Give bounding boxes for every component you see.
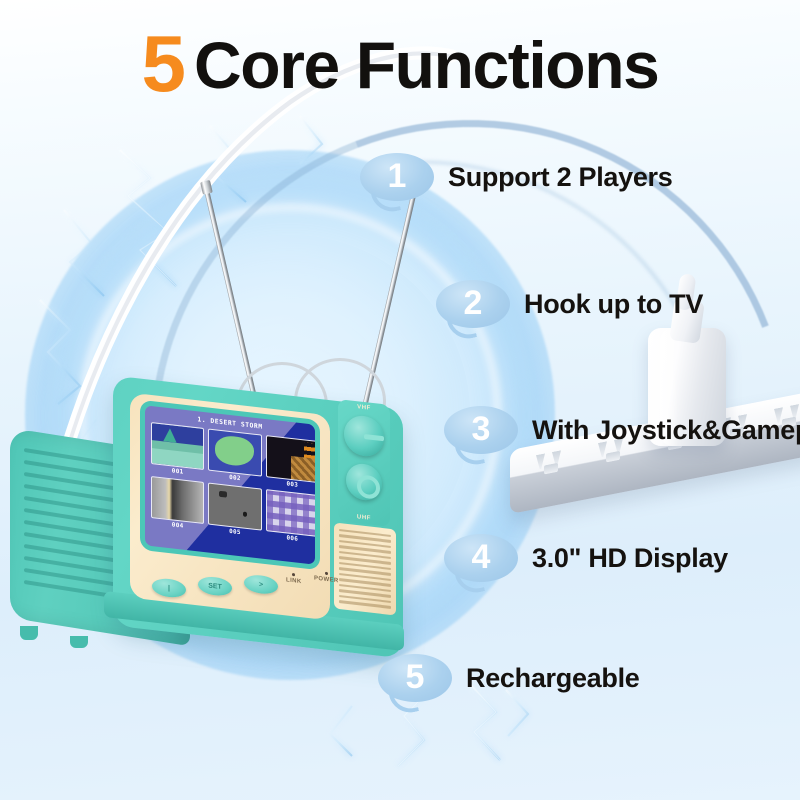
prev-button[interactable]: | [152, 577, 186, 599]
game-thumbnail-art [151, 476, 204, 524]
title-number: 5 [142, 19, 186, 108]
vhf-tuner-knob[interactable] [344, 414, 384, 459]
feature-badge-number: 4 [444, 534, 518, 582]
feature-item-1: 1 Support 2 Players [360, 153, 672, 201]
feature-label-5: Rechargeable [466, 663, 639, 694]
link-indicator: LINK [286, 572, 302, 585]
tv-screen-frame: 1. DESERT STORM 001 002 003 [140, 400, 320, 571]
feature-badge-number: 5 [378, 654, 452, 702]
game-thumbnail-item[interactable]: 006 [266, 489, 315, 547]
game-thumbnail-grid: 001 002 003 004 [151, 422, 315, 547]
poster-canvas: 5Core Functions [0, 0, 800, 800]
feature-badge-3: 3 [444, 406, 518, 454]
tuner-knob-panel: VHF UHF [338, 399, 390, 527]
vhf-label: VHF [338, 402, 390, 414]
power-led-icon [325, 572, 328, 575]
game-thumbnail-art [151, 422, 204, 470]
retro-tv-game-console: 1. DESERT STORM 001 002 003 [8, 350, 428, 690]
feature-badge-2: 2 [436, 280, 510, 328]
feature-badge-4: 4 [444, 534, 518, 582]
set-button[interactable]: SET [198, 575, 232, 597]
antenna-tip-left [200, 180, 213, 195]
feature-label-3: With Joystick&Gamepad [532, 415, 800, 446]
link-indicator-label: LINK [286, 577, 302, 585]
game-thumbnail-item[interactable]: 002 [208, 429, 261, 487]
next-button[interactable]: > [244, 574, 278, 596]
game-thumbnail-item[interactable]: 003 [266, 435, 315, 493]
game-thumbnail-item[interactable]: 004 [151, 476, 204, 534]
title-text: Core Functions [194, 28, 658, 102]
link-led-icon [292, 573, 295, 576]
game-thumbnail-item[interactable]: 005 [208, 483, 261, 541]
game-thumbnail-art [208, 483, 261, 531]
game-screen[interactable]: 1. DESERT STORM 001 002 003 [145, 405, 315, 564]
feature-item-4: 4 3.0" HD Display [444, 534, 728, 582]
feature-badge-1: 1 [360, 153, 434, 201]
feature-badge-5: 5 [378, 654, 452, 702]
feature-badge-number: 3 [444, 406, 518, 454]
game-thumbnail-art [266, 489, 315, 537]
game-thumbnail-item[interactable]: 001 [151, 422, 204, 480]
tv-foot-left [20, 626, 38, 640]
feature-badge-number: 2 [436, 280, 510, 328]
uhf-tuner-knob[interactable] [346, 462, 382, 502]
game-thumbnail-art [266, 435, 315, 483]
power-indicator: POWER [314, 571, 339, 585]
feature-label-4: 3.0" HD Display [532, 543, 728, 574]
feature-item-2: 2 Hook up to TV [436, 280, 703, 328]
feature-label-2: Hook up to TV [524, 289, 703, 320]
tv-foot-right [70, 636, 88, 648]
feature-label-1: Support 2 Players [448, 162, 672, 193]
game-thumbnail-art [208, 429, 261, 477]
feature-badge-number: 1 [360, 153, 434, 201]
page-title: 5Core Functions [0, 18, 800, 110]
feature-item-5: 5 Rechargeable [378, 654, 639, 702]
feature-item-3: 3 With Joystick&Gamepad [444, 406, 800, 454]
power-indicator-label: POWER [314, 576, 339, 585]
